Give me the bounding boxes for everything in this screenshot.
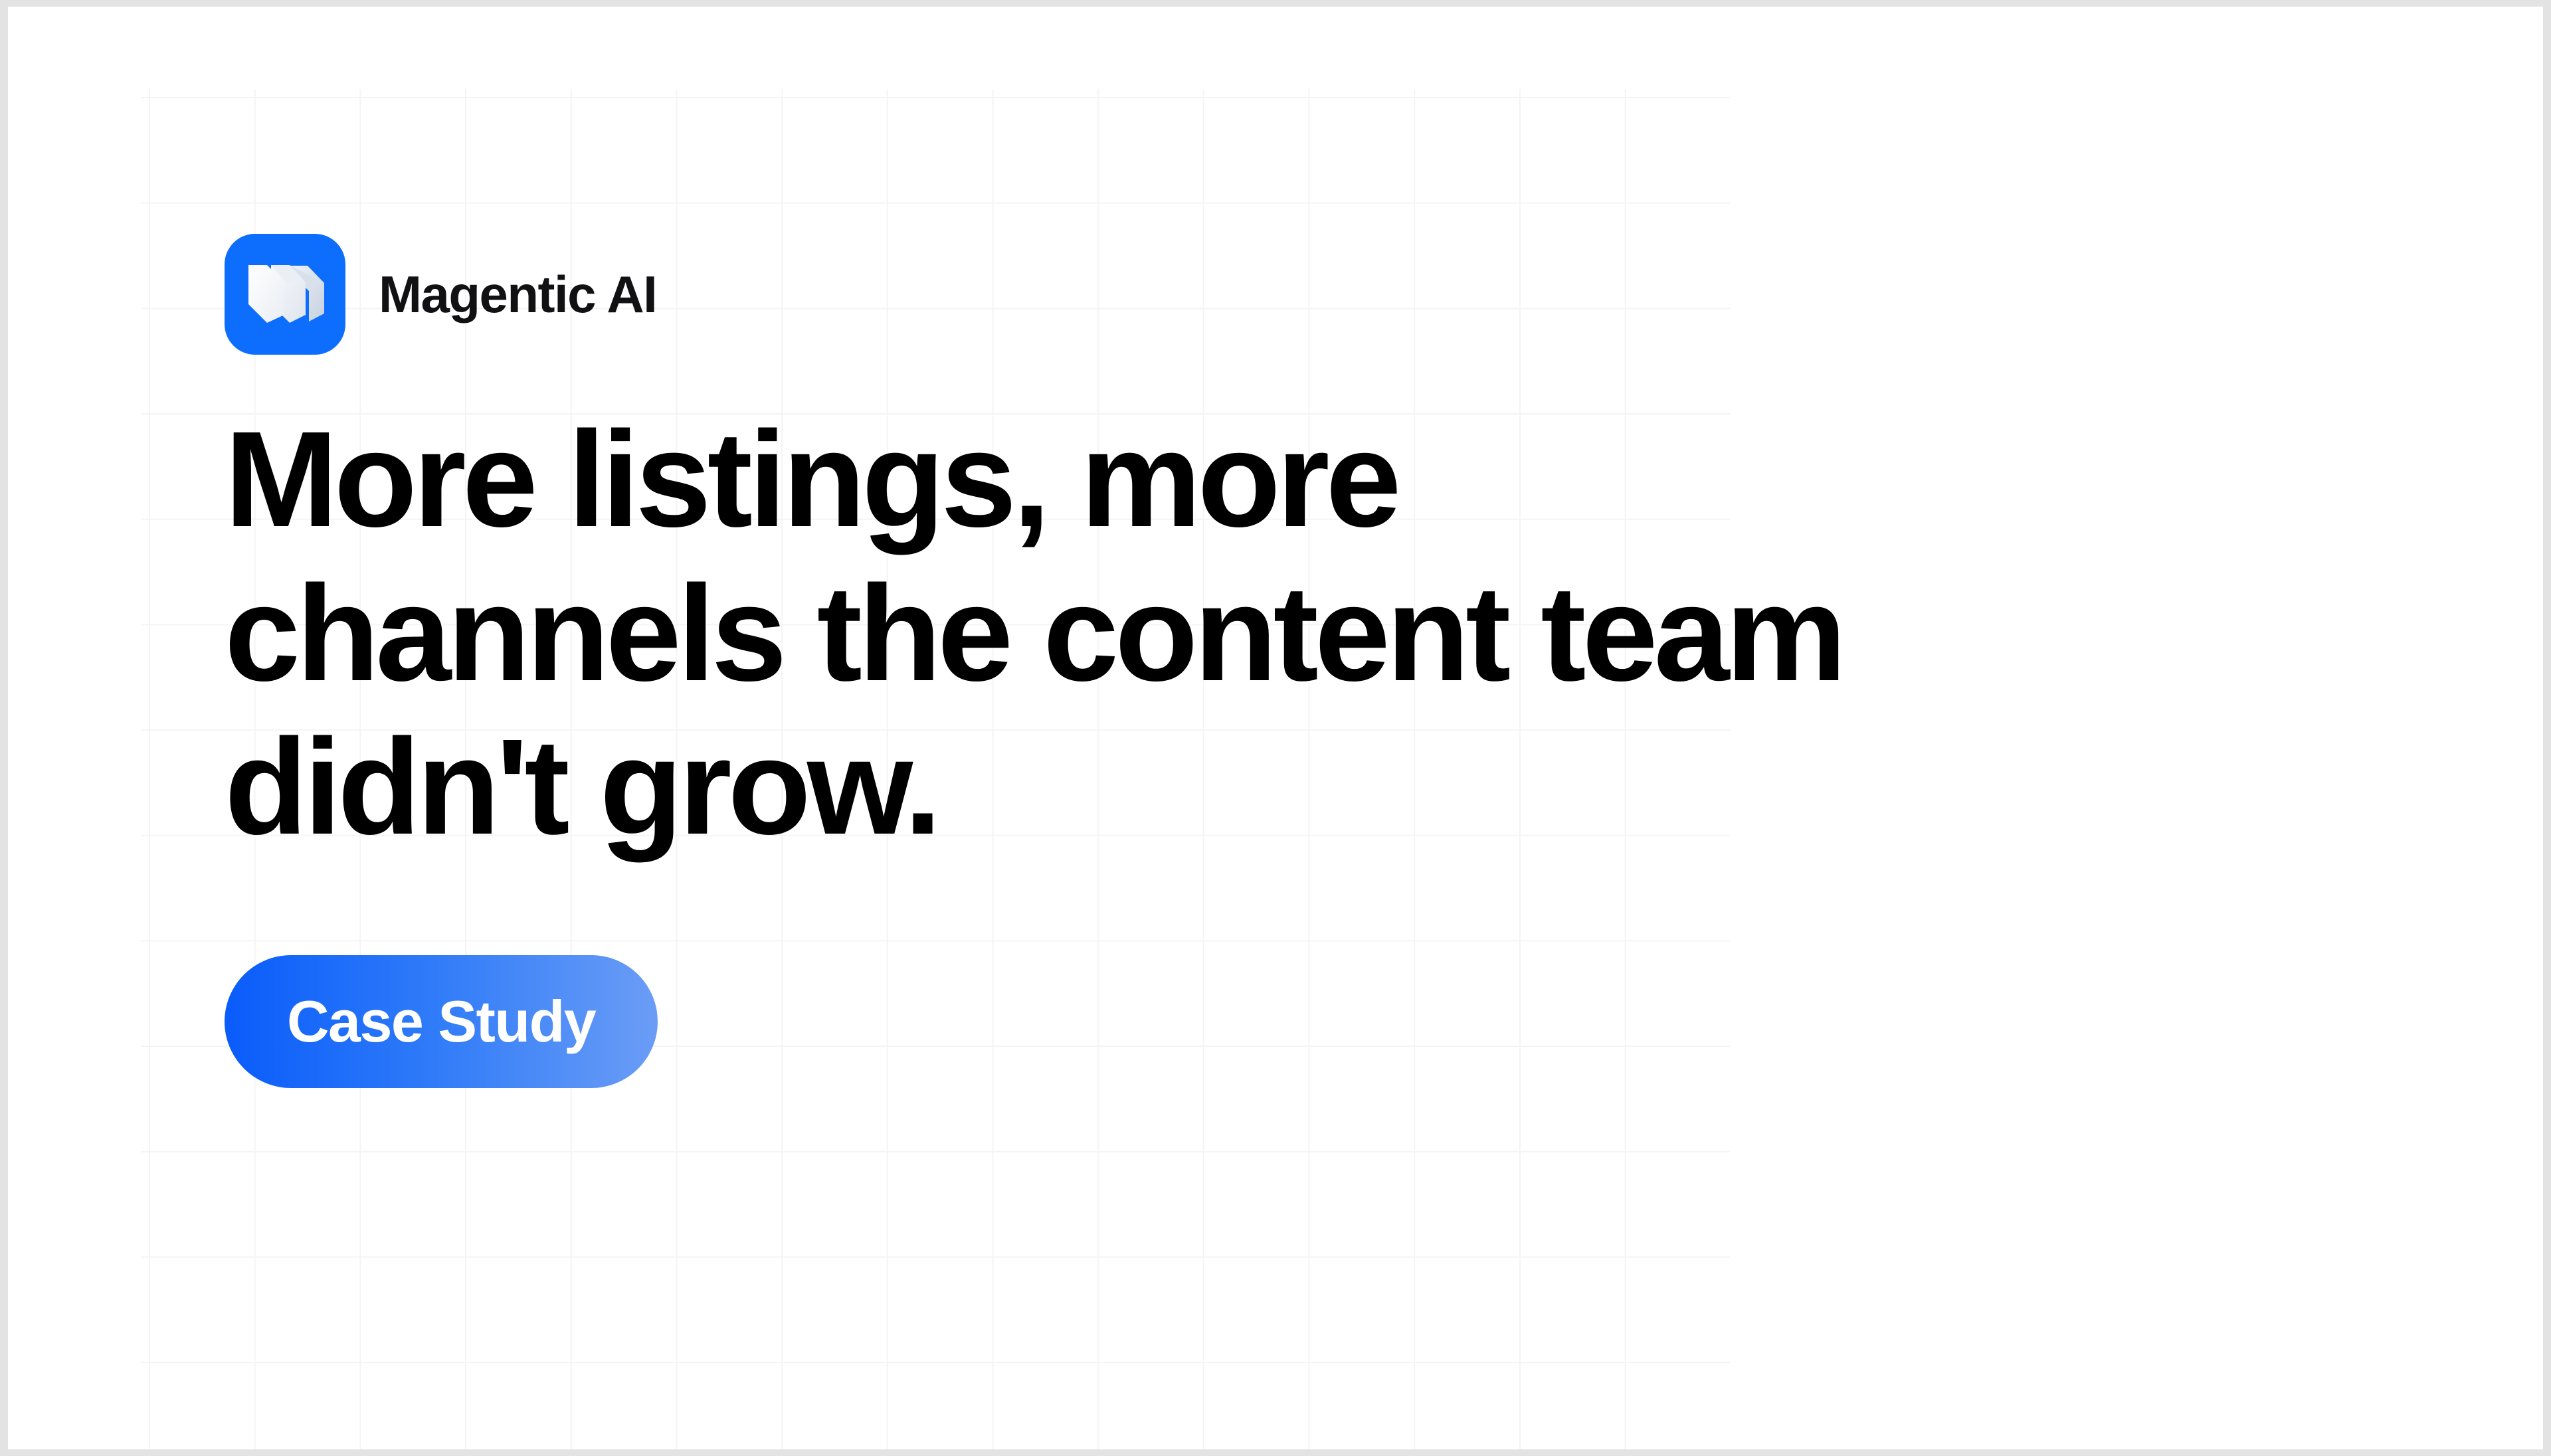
page-frame: Magentic AI More listings, more channels…	[0, 0, 2551, 1456]
brand-row: Magentic AI	[225, 232, 2350, 356]
badge-row: Case Study	[225, 955, 2350, 1088]
headline-line-2: channels the content team	[225, 557, 1952, 711]
slide-canvas: Magentic AI More listings, more channels…	[8, 7, 2543, 1449]
page-title: More listings, more channels the content…	[225, 403, 1952, 864]
case-study-badge[interactable]: Case Study	[225, 955, 658, 1088]
content-stack: Magentic AI More listings, more channels…	[225, 232, 2350, 1088]
magentic-layers-icon	[225, 234, 345, 355]
headline-line-3: didn't grow.	[225, 710, 1952, 864]
headline-line-1: More listings, more	[225, 403, 1952, 557]
brand-name: Magentic AI	[379, 268, 656, 320]
